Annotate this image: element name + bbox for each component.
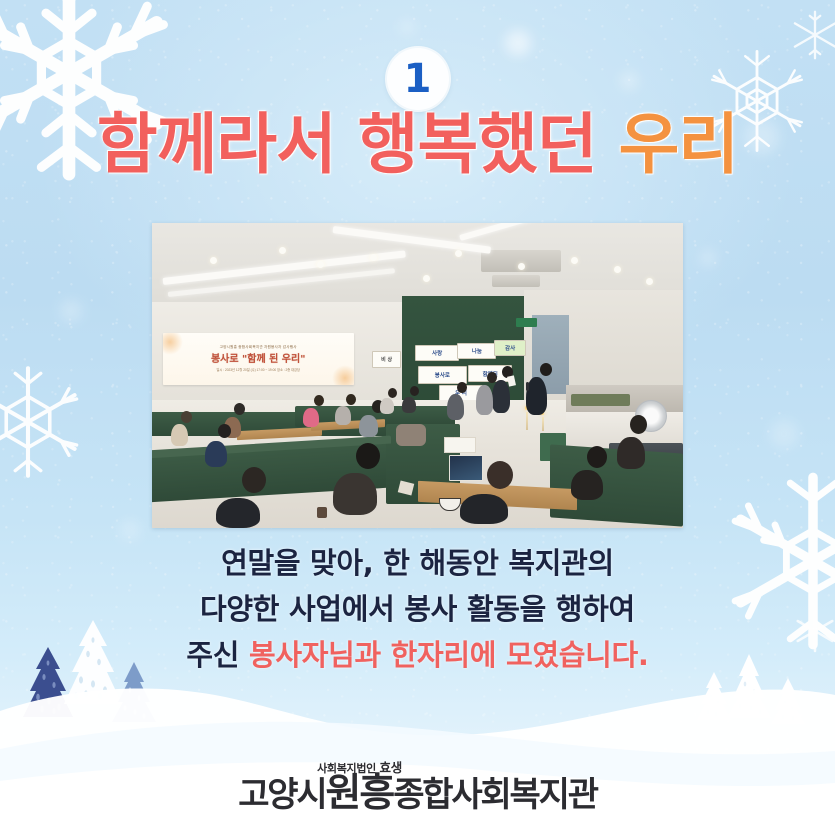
pine-tree-white xyxy=(694,670,734,741)
organization-accent: 원흥 xyxy=(325,771,393,816)
body-line-3-highlight: 봉사자님과 한자리에 모였습니다. xyxy=(249,638,649,672)
photo-downlight xyxy=(518,263,525,270)
photo-person-head xyxy=(487,461,513,489)
photo-person xyxy=(476,385,493,415)
corporation-prefix: 사회복지법인 xyxy=(317,762,379,775)
photo-person xyxy=(303,408,319,427)
photo-wall-placard: 나눔 xyxy=(457,343,496,359)
banner-details: 일시 : 2023년 12월 20일 (수) 17:00 ~ 19:00 장소 … xyxy=(216,367,299,372)
snow-bokeh xyxy=(620,72,638,90)
body-line-2: 다양한 사업에서 봉사 활동을 행하여 xyxy=(0,587,835,633)
organization-logo: 사회복지법인 효생 고양시원흥종합사회복지관 xyxy=(0,757,835,813)
winter-card: 1 함께라서 행복했던 우리 xyxy=(0,0,835,835)
photo-person xyxy=(460,494,508,524)
organization-suffix: 종합사회복지관 xyxy=(393,775,597,815)
photo-bowl xyxy=(439,498,461,511)
photo-exit-sign xyxy=(516,318,537,328)
photo-person-head xyxy=(540,363,552,376)
organization-name: 고양시원흥종합사회복지관 xyxy=(0,774,835,813)
photo-person xyxy=(333,473,377,515)
photo-ac-vent xyxy=(492,275,540,287)
snowflake-icon xyxy=(0,358,92,486)
photo-downlight xyxy=(423,275,430,282)
photo-person-head xyxy=(630,415,647,434)
snow-bokeh xyxy=(60,300,82,322)
banner-title: 봉사로 "함께 된 우리" xyxy=(211,350,305,365)
photo-person xyxy=(205,441,227,467)
photo-person-head xyxy=(410,386,419,396)
photo-event-banner: 고양시원흥 종합사회복지관 자원봉사자 감사행사 봉사로 "함께 된 우리" 일… xyxy=(163,333,354,385)
photo-candle xyxy=(526,412,528,430)
photo-table-card xyxy=(444,437,476,453)
snow-bokeh xyxy=(700,250,716,266)
photo-wall-placard: 봉사로 xyxy=(418,366,468,383)
photo-candle xyxy=(542,417,544,431)
page-title: 함께라서 행복했던 우리 xyxy=(0,112,835,178)
photo-person xyxy=(447,394,464,420)
photo-person xyxy=(216,498,260,528)
photo-person xyxy=(171,424,188,446)
photo-downlight xyxy=(370,254,377,261)
photo-person xyxy=(335,406,351,425)
photo-person-head xyxy=(457,382,467,393)
photo-blanket xyxy=(396,424,426,446)
photo-tablet-screen xyxy=(449,455,483,481)
snow-bokeh xyxy=(120,520,140,540)
photo-speaker xyxy=(526,377,547,415)
corporation-title: 효생 xyxy=(380,760,402,775)
photo-exit-placard: 비 상 xyxy=(372,351,401,368)
pine-tree-white xyxy=(768,676,808,743)
photo-downlight xyxy=(317,261,324,268)
page-title-part2: 우리 xyxy=(619,106,738,183)
organization-city: 고양시 xyxy=(238,775,325,815)
photo-person-head xyxy=(346,394,356,405)
body-line-3-plain: 주신 xyxy=(186,638,249,672)
photo-person-head xyxy=(181,411,192,423)
photo-person xyxy=(359,415,378,437)
photo-food-tray xyxy=(571,394,629,406)
step-number-badge: 1 xyxy=(387,48,449,110)
snow-bokeh xyxy=(400,20,414,34)
photo-person-head xyxy=(388,388,397,398)
snowflake-icon xyxy=(786,6,835,64)
event-photo: 고양시원흥 종합사회복지관 자원봉사자 감사행사 봉사로 "함께 된 우리" 일… xyxy=(152,223,683,528)
photo-wall-placard: 사랑 xyxy=(415,345,459,361)
photo-person-head xyxy=(587,446,607,468)
body-copy: 연말을 맞아, 한 해동안 복지관의 다양한 사업에서 봉사 활동을 행하여 주… xyxy=(0,541,835,678)
photo-person xyxy=(380,398,394,414)
snow-bokeh xyxy=(505,30,531,56)
page-title-part1: 함께라서 행복했던 xyxy=(97,106,597,183)
corporation-name: 사회복지법인 효생 xyxy=(0,757,777,776)
photo-person xyxy=(492,380,510,413)
photo-downlight xyxy=(646,278,653,285)
photo-person xyxy=(402,397,416,413)
photo-downlight xyxy=(210,257,217,264)
photo-cup xyxy=(317,507,327,518)
photo-person-head xyxy=(356,443,380,469)
photo-person-head xyxy=(487,372,497,383)
body-line-3: 주신 봉사자님과 한자리에 모였습니다. xyxy=(0,633,835,679)
body-line-1: 연말을 맞아, 한 해동안 복지관의 xyxy=(0,541,835,587)
photo-person xyxy=(617,437,645,469)
photo-wall-placard: 감사 xyxy=(494,340,525,355)
photo-microphone xyxy=(526,382,529,391)
snow-bokeh xyxy=(770,420,798,448)
step-number: 1 xyxy=(404,59,432,99)
photo-person xyxy=(571,470,603,500)
photo-downlight xyxy=(614,266,621,273)
